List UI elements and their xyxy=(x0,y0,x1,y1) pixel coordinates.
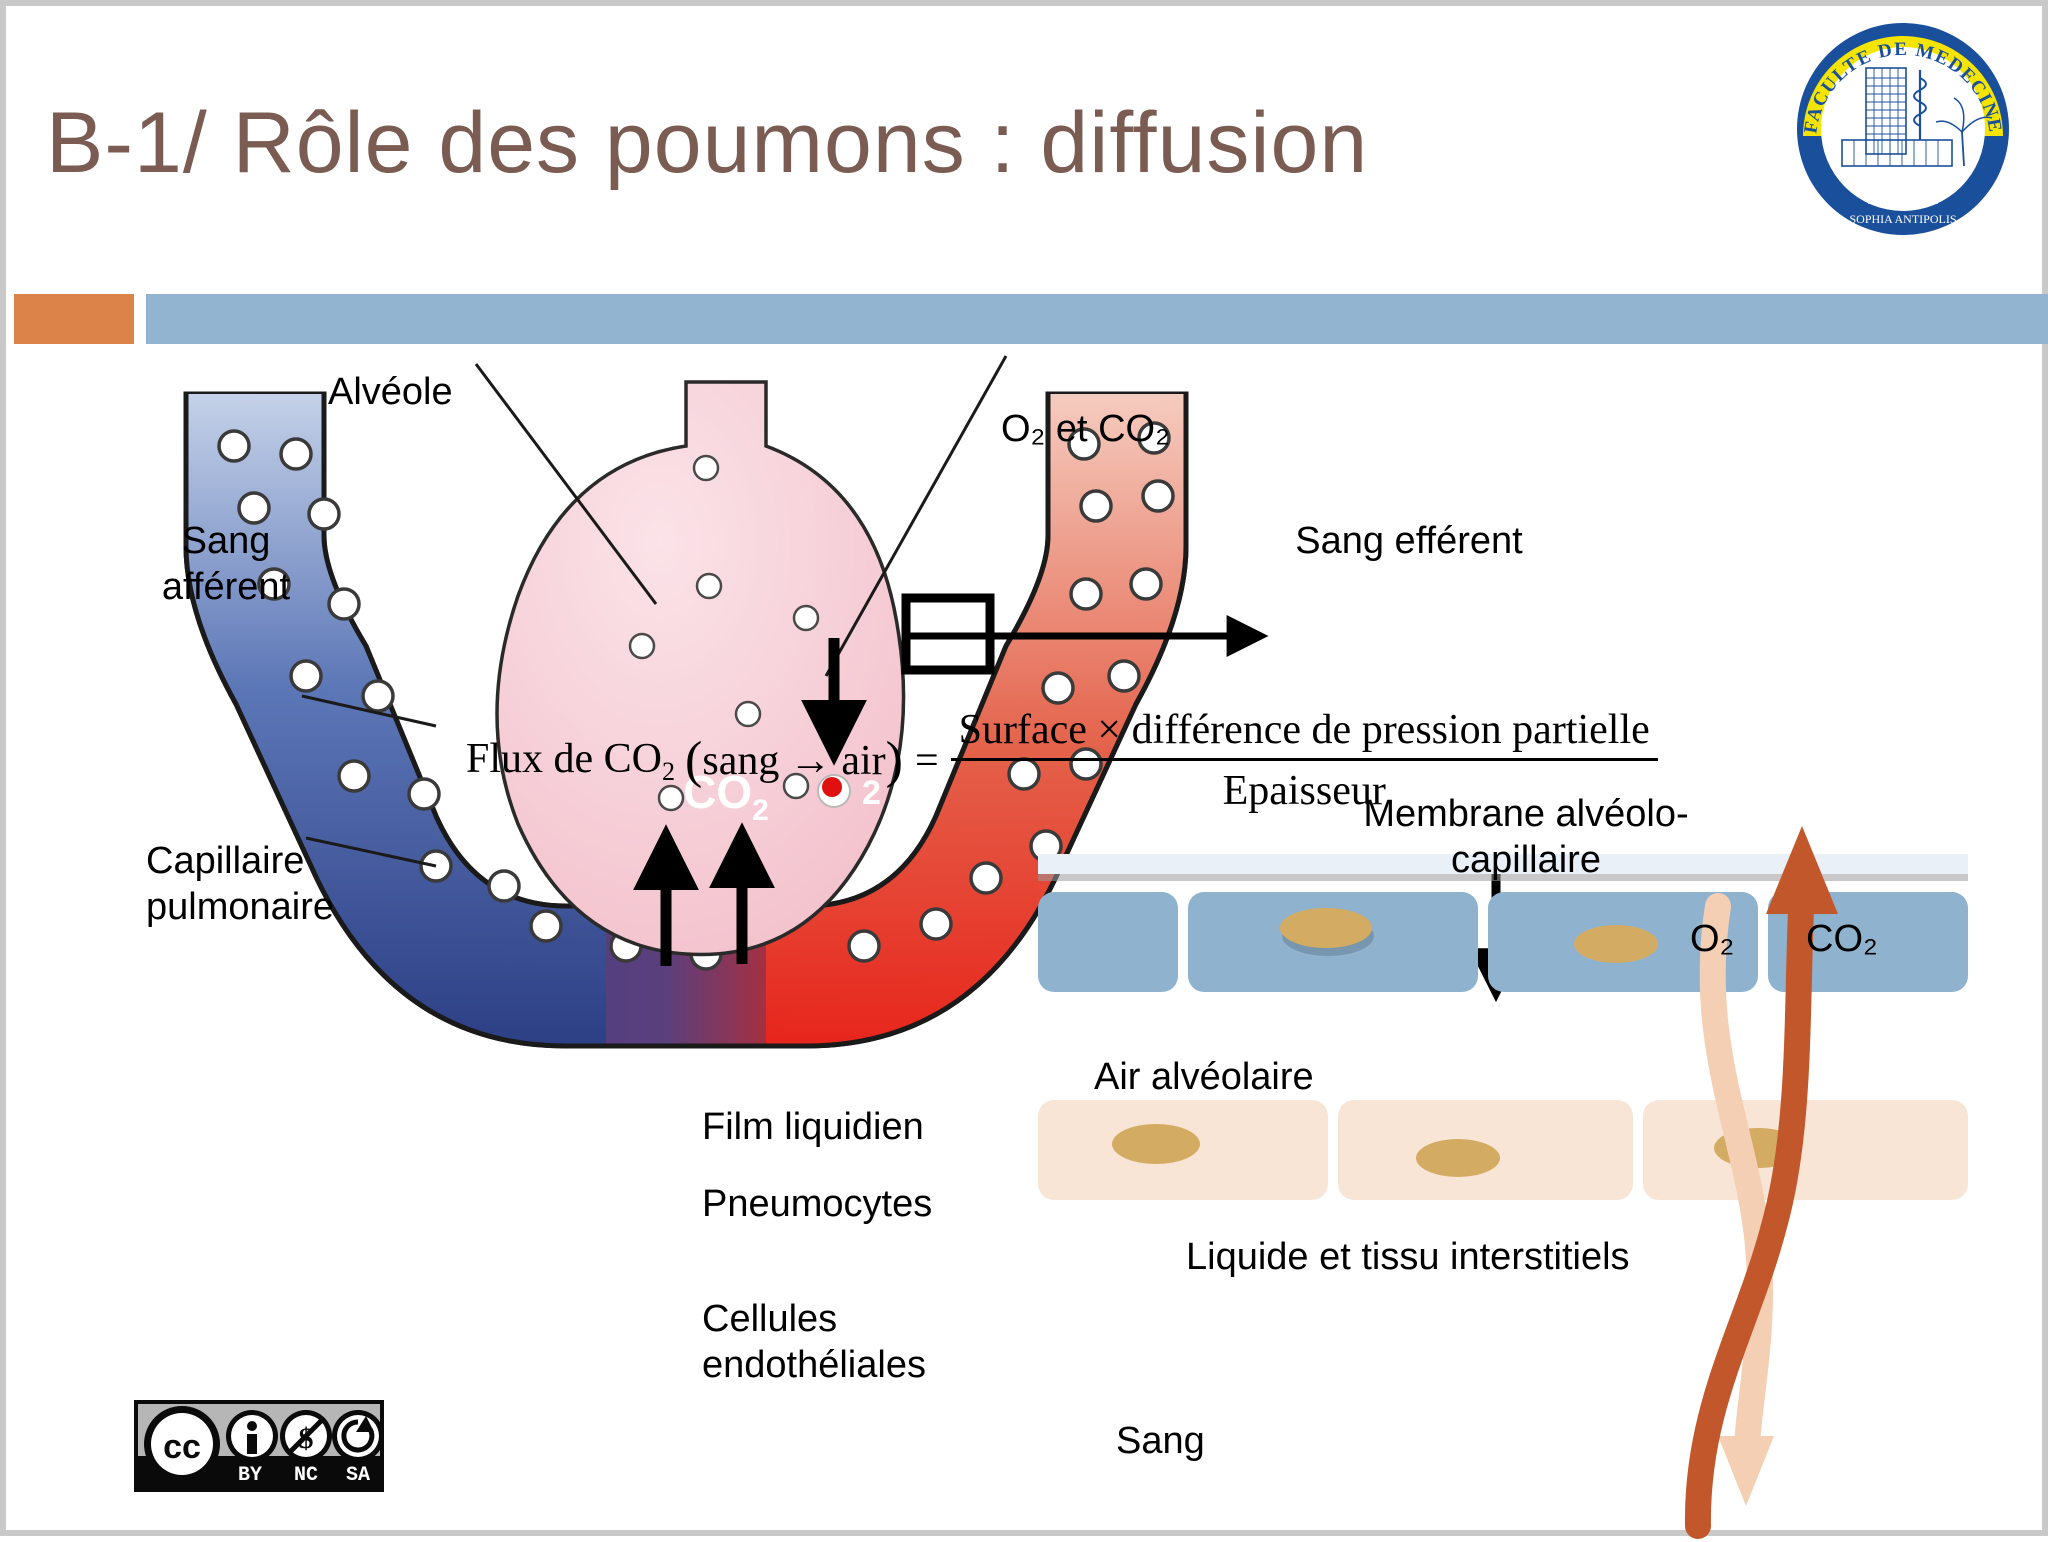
formula-paren-close: ) xyxy=(886,731,903,790)
cc-term-sa: SA xyxy=(346,1464,370,1487)
formula-fraction: Surface × différence de pression partiel… xyxy=(951,706,1658,815)
logo-line1: UNIVERSITE DE xyxy=(1854,180,1951,195)
logo-line2: NICE xyxy=(1888,196,1918,211)
label-pneumocytes: Pneumocytes xyxy=(702,1181,932,1227)
label-film-liquidien: Film liquidien xyxy=(702,1104,924,1150)
label-sang-afferent: Sang afférent xyxy=(116,518,336,611)
formula-denominator: Epaisseur xyxy=(951,758,1658,815)
formula-arg-right: air xyxy=(841,737,885,785)
logo-line3: SOPHIA ANTIPOLIS xyxy=(1849,212,1956,226)
label-cellules-endotheliales: Cellules endothéliales xyxy=(702,1296,1002,1389)
faculty-logo: FACULTE DE MEDECINE UNIVERSITE DE NICE S… xyxy=(1794,20,2012,238)
accent-bar-orange xyxy=(14,294,134,344)
label-o2-et-co2: O₂ et CO₂ xyxy=(1001,406,1170,452)
page-title: B-1/ Rôle des poumons : diffusion xyxy=(46,94,1368,193)
slide-root: B-1/ Rôle des poumons : diffusion xyxy=(0,0,2048,1536)
endothelial-row xyxy=(1038,1100,1968,1200)
label-sang: Sang xyxy=(1116,1418,1205,1464)
cc-term-by: BY xyxy=(238,1464,262,1487)
label-air-alveolaire: Air alvéolaire xyxy=(1094,1054,1314,1100)
formula-paren-open: ( xyxy=(685,731,702,790)
label-o2-right: O₂ xyxy=(1690,916,1734,962)
label-alveole: Alvéole xyxy=(328,369,453,415)
label-liquide-tissu-interstitiels: Liquide et tissu interstitiels xyxy=(1186,1234,1630,1280)
formula-equals: = xyxy=(915,737,939,785)
formula-arg-left: sang xyxy=(702,737,779,785)
cc-term-nc: NC xyxy=(294,1464,318,1487)
accent-bar-blue xyxy=(146,294,2048,344)
formula-numerator: Surface × différence de pression partiel… xyxy=(951,706,1658,758)
alveolus xyxy=(497,382,904,955)
label-co2-right: CO₂ xyxy=(1806,916,1878,962)
formula-arrow: → xyxy=(789,737,831,785)
label-sang-efferent: Sang efférent xyxy=(1294,518,1524,564)
creative-commons-badge: cc $ BY NC SA xyxy=(134,1400,384,1492)
formula-lhs: Flux de CO2 xyxy=(466,735,675,787)
cc-logo-text: cc xyxy=(163,1428,201,1466)
diffusion-formula: Flux de CO2 ( sang → air ) = Surface × d… xyxy=(466,706,1658,815)
label-capillaire-pulmonaire: Capillaire pulmonaire xyxy=(146,838,446,931)
